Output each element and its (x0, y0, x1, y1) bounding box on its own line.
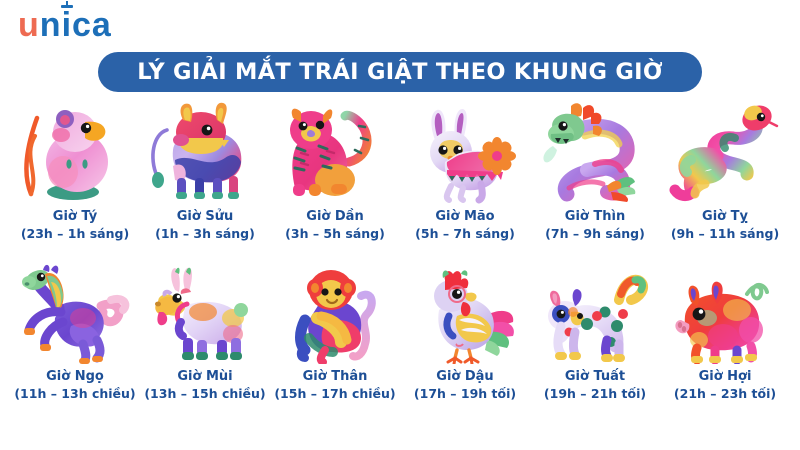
zodiac-cell-monkey: Giờ Thân (15h – 17h chiều) (270, 260, 400, 402)
monkey-illustration (275, 260, 395, 364)
rooster-illustration (405, 260, 525, 364)
zodiac-name: Giờ Dậu (414, 368, 516, 385)
zodiac-name: Giờ Tỵ (671, 208, 779, 225)
caption-rooster: Giờ Dậu (17h – 19h tối) (414, 368, 516, 402)
caption-dog: Giờ Tuất (19h – 21h tối) (544, 368, 646, 402)
infographic-page: unica LÝ GIẢI MẮT TRÁI GIẬT THEO KHUNG G… (0, 0, 800, 450)
zodiac-time: (15h – 17h chiều) (274, 385, 395, 402)
zodiac-time: (11h – 13h chiều) (14, 385, 135, 402)
logo-letter-n: n (40, 6, 62, 44)
zodiac-name: Giờ Ngọ (14, 368, 135, 385)
zodiac-name: Giờ Dần (285, 208, 385, 225)
zodiac-name: Giờ Mùi (144, 368, 265, 385)
zodiac-name: Giờ Tý (21, 208, 129, 225)
zodiac-cell-dragon: Giờ Thìn (7h – 9h sáng) (530, 100, 660, 242)
zodiac-cell-dog: Giờ Tuất (19h – 21h tối) (530, 260, 660, 402)
zodiac-time: (13h – 15h chiều) (144, 385, 265, 402)
caption-rabbit: Giờ Mão (5h – 7h sáng) (415, 208, 515, 242)
logo-letter-i: i (62, 6, 72, 44)
zodiac-cell-ox: Giờ Sửu (1h – 3h sáng) (140, 100, 270, 242)
zodiac-cell-rat: Giờ Tý (23h – 1h sáng) (10, 100, 140, 242)
zodiac-name: Giờ Tuất (544, 368, 646, 385)
logo-i-mark-icon (61, 1, 73, 8)
pig-illustration (665, 260, 785, 364)
zodiac-cell-tiger: Giờ Dần (3h – 5h sáng) (270, 100, 400, 242)
caption-horse: Giờ Ngọ (11h – 13h chiều) (14, 368, 135, 402)
zodiac-cell-horse: Giờ Ngọ (11h – 13h chiều) (10, 260, 140, 402)
caption-goat: Giờ Mùi (13h – 15h chiều) (144, 368, 265, 402)
zodiac-name: Giờ Sửu (155, 208, 255, 225)
zodiac-time: (7h – 9h sáng) (545, 225, 645, 242)
zodiac-cell-snake: Giờ Tỵ (9h – 11h sáng) (660, 100, 790, 242)
ox-illustration (145, 100, 265, 204)
zodiac-time: (9h – 11h sáng) (671, 225, 779, 242)
zodiac-time: (21h – 23h tối) (674, 385, 776, 402)
caption-monkey: Giờ Thân (15h – 17h chiều) (274, 368, 395, 402)
caption-tiger: Giờ Dần (3h – 5h sáng) (285, 208, 385, 242)
zodiac-time: (23h – 1h sáng) (21, 225, 129, 242)
zodiac-row-1: Giờ Tý (23h – 1h sáng) (10, 100, 790, 242)
zodiac-time: (5h – 7h sáng) (415, 225, 515, 242)
zodiac-grid: Giờ Tý (23h – 1h sáng) (10, 100, 790, 402)
rabbit-illustration (405, 100, 525, 204)
zodiac-name: Giờ Mão (415, 208, 515, 225)
zodiac-name: Giờ Thân (274, 368, 395, 385)
zodiac-time: (19h – 21h tối) (544, 385, 646, 402)
caption-snake: Giờ Tỵ (9h – 11h sáng) (671, 208, 779, 242)
logo-i-char: i (62, 6, 72, 44)
unica-logo: unica (18, 6, 112, 44)
snake-illustration (665, 100, 785, 204)
caption-dragon: Giờ Thìn (7h – 9h sáng) (545, 208, 645, 242)
zodiac-cell-rooster: Giờ Dậu (17h – 19h tối) (400, 260, 530, 402)
zodiac-cell-rabbit: Giờ Mão (5h – 7h sáng) (400, 100, 530, 242)
dog-illustration (535, 260, 655, 364)
zodiac-time: (1h – 3h sáng) (155, 225, 255, 242)
zodiac-name: Giờ Hợi (674, 368, 776, 385)
goat-illustration (145, 260, 265, 364)
tiger-illustration (275, 100, 395, 204)
caption-rat: Giờ Tý (23h – 1h sáng) (21, 208, 129, 242)
caption-pig: Giờ Hợi (21h – 23h tối) (674, 368, 776, 402)
horse-illustration (15, 260, 135, 364)
zodiac-cell-pig: Giờ Hợi (21h – 23h tối) (660, 260, 790, 402)
title-banner: LÝ GIẢI MẮT TRÁI GIẬT THEO KHUNG GIỜ (98, 52, 702, 92)
zodiac-name: Giờ Thìn (545, 208, 645, 225)
logo-letter-u: u (18, 6, 40, 44)
zodiac-row-2: Giờ Ngọ (11h – 13h chiều) (10, 260, 790, 402)
zodiac-cell-goat: Giờ Mùi (13h – 15h chiều) (140, 260, 270, 402)
zodiac-time: (17h – 19h tối) (414, 385, 516, 402)
zodiac-time: (3h – 5h sáng) (285, 225, 385, 242)
rat-illustration (15, 100, 135, 204)
dragon-illustration (535, 100, 655, 204)
logo-letters-ca: ca (72, 6, 112, 44)
page-title: LÝ GIẢI MẮT TRÁI GIẬT THEO KHUNG GIỜ (137, 59, 663, 85)
caption-ox: Giờ Sửu (1h – 3h sáng) (155, 208, 255, 242)
